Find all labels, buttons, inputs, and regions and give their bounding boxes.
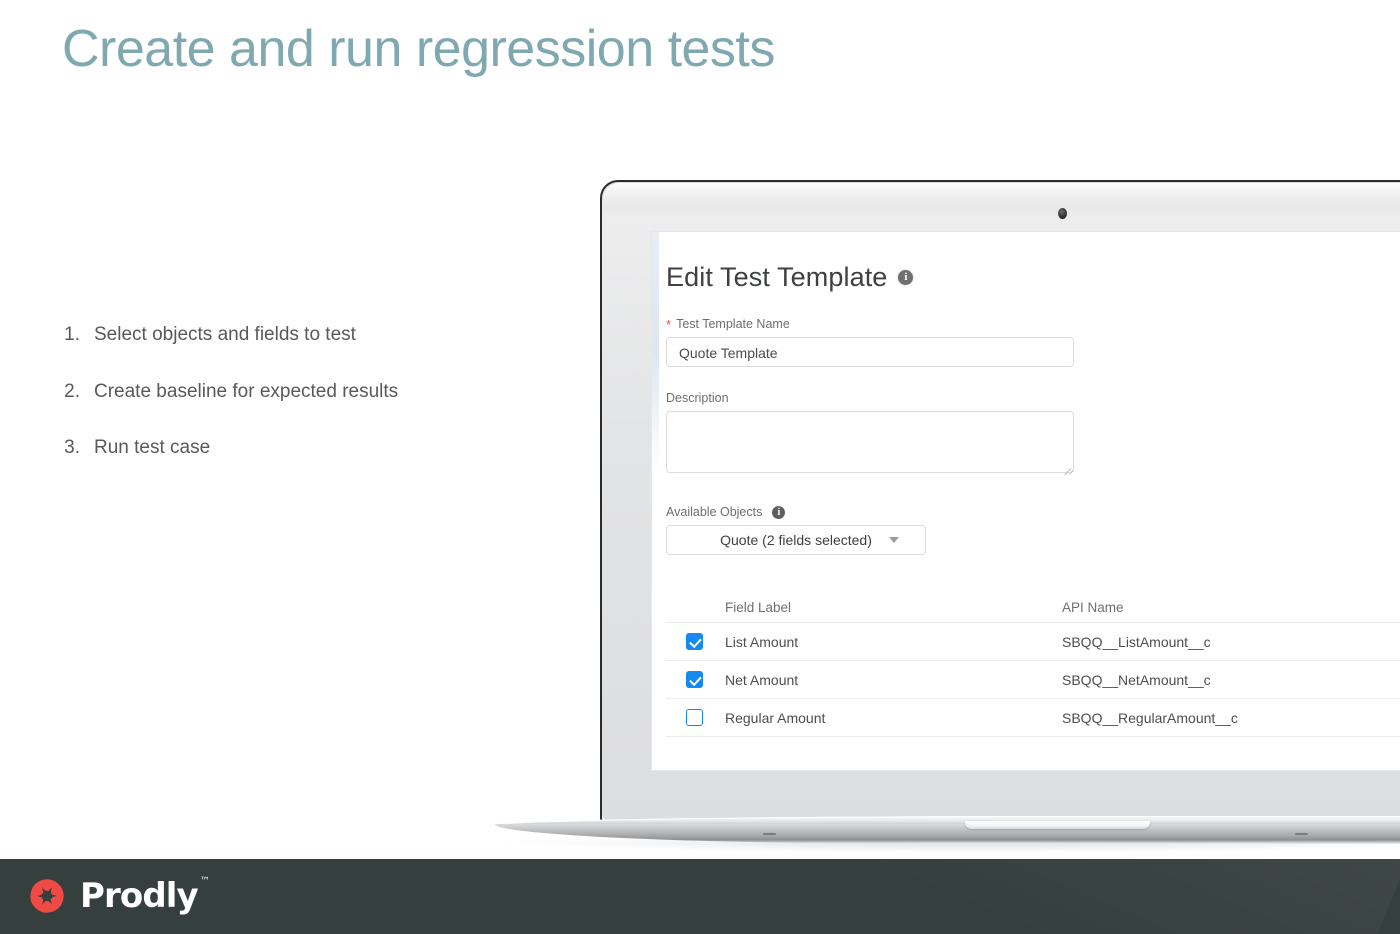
brand-name: Prodly ™ [80, 879, 198, 913]
laptop-screen: Edit Test Template i * Test Template Nam… [652, 232, 1400, 770]
step-number: 2. [54, 379, 84, 405]
test-template-name-input[interactable]: Quote Template [666, 337, 1074, 367]
list-item: 3. Run test case [54, 435, 524, 461]
brand-logo[interactable]: Prodly ™ [26, 875, 198, 917]
row-checkbox[interactable] [686, 633, 703, 650]
column-header-api-name: API Name [1062, 600, 1400, 615]
field-test-template-name: * Test Template Name Quote Template [666, 317, 1400, 367]
field-label: Available Objects i [666, 505, 1400, 519]
field-label-text: Available Objects [666, 505, 762, 519]
cell-api-name: SBQQ__RegularAmount__c [1062, 710, 1400, 726]
cell-api-name: SBQQ__NetAmount__c [1062, 672, 1400, 688]
cell-field-label: Net Amount [722, 672, 1062, 688]
cell-api-name: SBQQ__ListAmount__c [1062, 634, 1400, 650]
field-label: * Test Template Name [666, 317, 1400, 331]
lid-gloss [603, 183, 1400, 209]
field-label: Description [666, 391, 1400, 405]
table-header-row: Field Label API Name [666, 593, 1400, 623]
available-objects-selected-value: Quote (2 fields selected) [720, 532, 872, 548]
slide-canvas: Create and run regression tests 1. Selec… [0, 0, 1400, 934]
steps-list: 1. Select objects and fields to test 2. … [54, 322, 524, 492]
required-asterisk: * [666, 318, 671, 331]
page-title: Create and run regression tests [62, 18, 775, 80]
base-vent [1295, 833, 1308, 835]
footer-bar: Prodly ™ [0, 859, 1400, 934]
form-heading: Edit Test Template i [666, 262, 1400, 293]
base-body [495, 824, 1400, 844]
edit-test-template-form: Edit Test Template i * Test Template Nam… [666, 240, 1400, 737]
description-textarea[interactable] [666, 411, 1074, 473]
field-description: Description [666, 391, 1400, 473]
row-checkbox[interactable] [686, 709, 703, 726]
table-row[interactable]: Net Amount SBQQ__NetAmount__c [666, 661, 1400, 699]
screen-left-rail [652, 232, 659, 770]
available-objects-select[interactable]: Quote (2 fields selected) [666, 525, 926, 555]
laptop-base [495, 816, 1400, 850]
step-number: 1. [54, 322, 84, 348]
row-checkbox-cell [666, 671, 722, 688]
laptop-lid: Edit Test Template i * Test Template Nam… [600, 180, 1400, 820]
row-checkbox-cell [666, 633, 722, 650]
table-row[interactable]: Regular Amount SBQQ__RegularAmount__c [666, 699, 1400, 737]
resize-handle-icon[interactable] [1061, 460, 1071, 470]
base-notch [965, 821, 1150, 829]
footer-sheen [616, 859, 1400, 934]
fields-table: Field Label API Name List Amount SBQQ__L… [666, 593, 1400, 737]
trademark-symbol: ™ [200, 877, 210, 887]
step-text: Select objects and fields to test [84, 322, 356, 348]
info-icon[interactable]: i [772, 506, 785, 519]
field-available-objects: Available Objects i Quote (2 fields sele… [666, 505, 1400, 555]
webcam-icon [1058, 208, 1067, 219]
cell-field-label: List Amount [722, 634, 1062, 650]
step-text: Create baseline for expected results [84, 379, 398, 405]
column-header-field-label: Field Label [722, 600, 1062, 615]
cell-field-label: Regular Amount [722, 710, 1062, 726]
list-item: 1. Select objects and fields to test [54, 322, 524, 348]
table-row[interactable]: List Amount SBQQ__ListAmount__c [666, 623, 1400, 661]
brand-name-text: Prodly [80, 876, 198, 916]
form-heading-text: Edit Test Template [666, 262, 887, 293]
field-label-text: Test Template Name [676, 317, 790, 331]
chevron-down-icon [889, 537, 899, 543]
base-vent [763, 833, 776, 835]
step-text: Run test case [84, 435, 210, 461]
info-icon[interactable]: i [898, 270, 913, 285]
step-number: 3. [54, 435, 84, 461]
list-item: 2. Create baseline for expected results [54, 379, 524, 405]
row-checkbox[interactable] [686, 671, 703, 688]
laptop-mockup: Edit Test Template i * Test Template Nam… [600, 180, 1400, 840]
prodly-pinwheel-logo-icon [26, 875, 68, 917]
field-label-text: Description [666, 391, 729, 405]
row-checkbox-cell [666, 709, 722, 726]
